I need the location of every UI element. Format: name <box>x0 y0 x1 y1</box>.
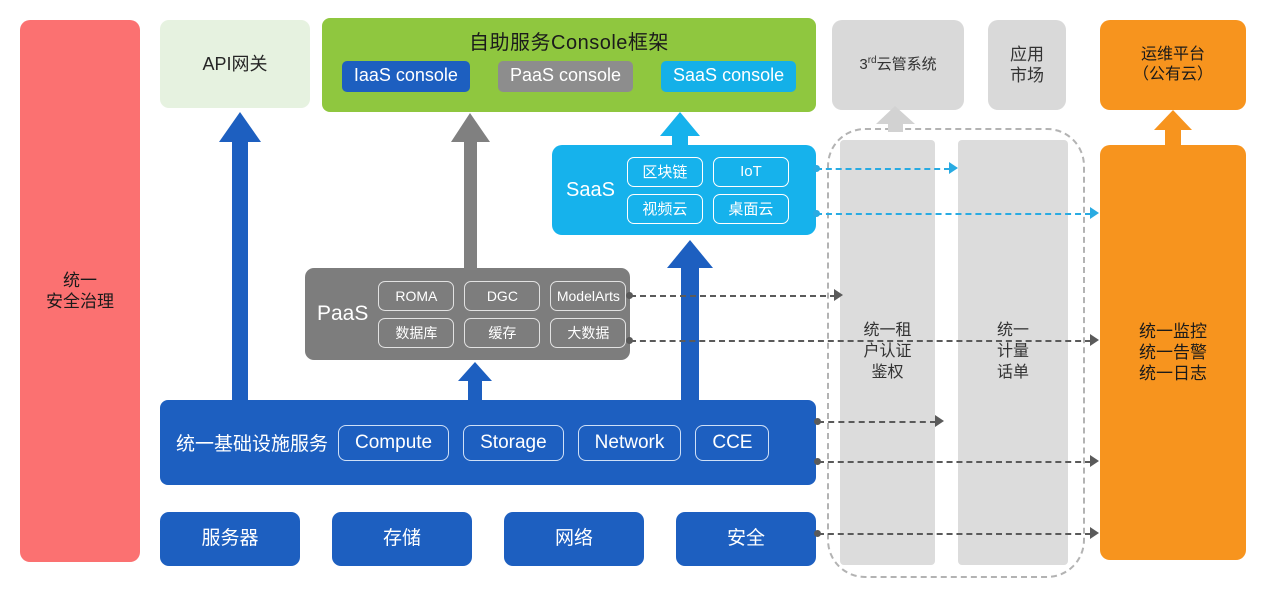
metering-line-2: 计量 <box>997 342 1029 363</box>
paas-block: PaaS ROMA DGC ModelArts 数据库 缓存 大数据 <box>305 268 630 360</box>
resource-box-network[interactable]: 网络 <box>504 512 644 566</box>
metering-line-3: 话单 <box>997 363 1029 384</box>
api-gateway-box: API网关 <box>160 20 310 108</box>
unified-infrastructure-bar: 统一基础设施服务 Compute Storage Network CCE <box>160 400 816 485</box>
self-service-console-frame: 自助服务Console框架 IaaS console PaaS console … <box>322 18 816 112</box>
saas-chip-blockchain[interactable]: 区块链 <box>627 157 703 187</box>
api-gateway-label: API网关 <box>202 53 267 76</box>
paas-row-2: 数据库 缓存 大数据 <box>378 318 626 348</box>
gray-line-paas-to-ops <box>630 340 1091 342</box>
paas-row-1: ROMA DGC ModelArts <box>378 281 626 311</box>
arrow-ops-column-to-ops-platform <box>1154 110 1192 146</box>
arrow-infra-to-api-gateway <box>219 112 261 401</box>
saas-label: SaaS <box>566 179 615 202</box>
paas-chip-database[interactable]: 数据库 <box>378 318 454 348</box>
cyan-line-1-arrowhead <box>949 162 958 174</box>
infra-chip-compute[interactable]: Compute <box>338 425 449 461</box>
cyan-line-saas-to-metering <box>816 168 950 170</box>
auth-line-2: 户认证 <box>863 342 911 363</box>
saas-chip-video-cloud[interactable]: 视频云 <box>627 194 703 224</box>
cyan-line-saas-to-ops <box>816 213 1091 215</box>
resource-label-server: 服务器 <box>201 527 258 551</box>
ops-platform-line-1: 运维平台 <box>1133 45 1213 65</box>
paas-console-chip[interactable]: PaaS console <box>498 61 633 92</box>
infra-chip-cce[interactable]: CCE <box>695 425 769 461</box>
paas-label: PaaS <box>317 302 368 326</box>
resource-box-storage[interactable]: 存储 <box>332 512 472 566</box>
ops-column-line-2: 统一告警 <box>1139 342 1207 363</box>
resource-label-network: 网络 <box>555 527 593 551</box>
unified-tenant-auth-column: 统一租 户认证 鉴权 <box>840 140 935 565</box>
saas-console-chip[interactable]: SaaS console <box>661 61 796 92</box>
gray-line-infra-to-auth <box>818 421 936 423</box>
paas-chip-roma[interactable]: ROMA <box>378 281 454 311</box>
resource-label-storage: 存储 <box>383 527 421 551</box>
gray-line-4-arrowhead <box>1090 455 1099 467</box>
security-line-2: 安全治理 <box>46 291 114 312</box>
gray-line-paas-to-auth <box>630 295 836 297</box>
saas-chip-iot[interactable]: IoT <box>713 157 789 187</box>
unified-metering-column: 统一 计量 话单 <box>958 140 1068 565</box>
infrastructure-chip-row: Compute Storage Network CCE <box>338 425 769 461</box>
gray-line-infra-to-ops <box>818 461 1091 463</box>
ops-platform-box: 运维平台 （公有云） <box>1100 20 1246 110</box>
ops-column-line-1: 统一监控 <box>1139 321 1207 342</box>
gray-line-5-arrowhead <box>1090 527 1099 539</box>
architecture-diagram: 统一 安全治理 API网关 自助服务Console框架 IaaS console… <box>0 0 1265 605</box>
arrow-infra-to-saas <box>667 240 713 401</box>
iaas-console-chip[interactable]: IaaS console <box>342 61 470 92</box>
ops-platform-line-2: （公有云） <box>1133 65 1213 85</box>
security-line-1: 统一 <box>46 270 114 291</box>
saas-chip-desktop-cloud[interactable]: 桌面云 <box>713 194 789 224</box>
gray-line-3-arrowhead <box>935 415 944 427</box>
gray-line-1-arrowhead <box>834 289 843 301</box>
paas-service-grid: ROMA DGC ModelArts 数据库 缓存 大数据 <box>378 281 626 348</box>
auth-line-3: 鉴权 <box>863 363 911 384</box>
infra-chip-network[interactable]: Network <box>578 425 682 461</box>
gray-line-resources-to-ops <box>818 533 1091 535</box>
saas-service-grid: 区块链 IoT 视频云 桌面云 <box>627 157 789 224</box>
paas-chip-modelarts[interactable]: ModelArts <box>550 281 626 311</box>
unified-ops-column: 统一监控 统一告警 统一日志 <box>1100 145 1246 560</box>
resource-box-server[interactable]: 服务器 <box>160 512 300 566</box>
ops-column-line-3: 统一日志 <box>1139 363 1207 384</box>
resource-label-security: 安全 <box>727 527 765 551</box>
third-party-suffix: 云管系统 <box>877 56 937 73</box>
arrow-infra-to-paas <box>458 362 492 401</box>
app-market-box: 应用 市场 <box>988 20 1066 110</box>
infra-chip-storage[interactable]: Storage <box>463 425 564 461</box>
paas-chip-dgc[interactable]: DGC <box>464 281 540 311</box>
auth-line-1: 统一租 <box>863 321 911 342</box>
app-market-line-2: 市场 <box>1010 65 1044 86</box>
console-chip-row: IaaS console PaaS console SaaS console <box>322 61 816 92</box>
saas-row-2: 视频云 桌面云 <box>627 194 789 224</box>
infrastructure-label: 统一基础设施服务 <box>176 429 328 456</box>
console-frame-title: 自助服务Console框架 <box>469 26 669 55</box>
saas-row-1: 区块链 IoT <box>627 157 789 187</box>
app-market-line-1: 应用 <box>1010 44 1044 65</box>
arrow-paas-to-console <box>451 113 490 270</box>
third-party-prefix: 3 <box>859 56 867 73</box>
gray-line-2-arrowhead <box>1090 334 1099 346</box>
cyan-line-2-arrowhead <box>1090 207 1099 219</box>
third-party-cloud-management-box: 3rd云管系统 <box>832 20 964 110</box>
metering-line-1: 统一 <box>997 321 1029 342</box>
third-party-superscript: rd <box>868 55 877 66</box>
paas-chip-cache[interactable]: 缓存 <box>464 318 540 348</box>
paas-chip-bigdata[interactable]: 大数据 <box>550 318 626 348</box>
saas-block: SaaS 区块链 IoT 视频云 桌面云 <box>552 145 816 235</box>
unified-security-governance-panel: 统一 安全治理 <box>20 20 140 562</box>
arrow-saas-to-console <box>660 112 700 147</box>
resource-box-security[interactable]: 安全 <box>676 512 816 566</box>
